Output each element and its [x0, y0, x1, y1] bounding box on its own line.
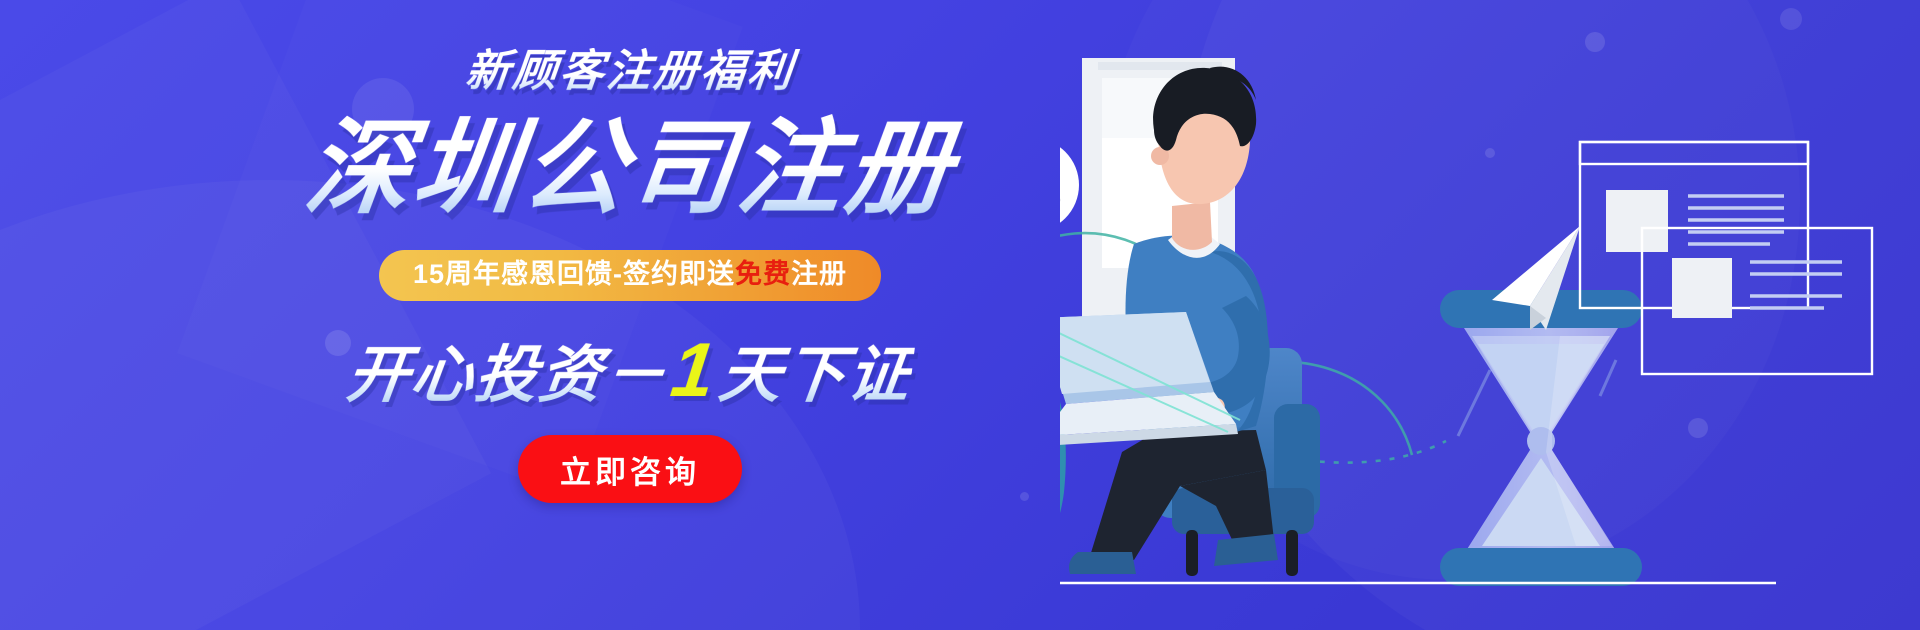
promo-badge-suffix: 注册 — [791, 259, 847, 289]
page-title: 深圳公司注册 — [293, 114, 968, 232]
consult-now-button[interactable]: 立即咨询 — [518, 435, 742, 503]
bg-dot-icon — [1020, 492, 1029, 501]
subline-after: 天下证 — [715, 341, 915, 410]
subline-text: 开心投资－1天下证 — [295, 331, 965, 411]
eyebrow-text: 新顾客注册福利 — [297, 48, 962, 100]
promo-banner: 新顾客注册福利 深圳公司注册 15周年感恩回馈-签约即送免费注册 开心投资－1天… — [0, 0, 1920, 630]
wall-clock-icon — [1060, 138, 1079, 232]
promo-badge-prefix: 15周年感恩回馈-签约即送 — [413, 259, 735, 289]
hourglass-icon — [1440, 290, 1642, 586]
document-card-front-icon — [1642, 228, 1872, 374]
banner-copy: 新顾客注册福利 深圳公司注册 15周年感恩回馈-签约即送免费注册 开心投资－1天… — [300, 48, 960, 503]
promo-badge-highlight: 免费 — [735, 259, 791, 289]
promo-badge: 15周年感恩回馈-签约即送免费注册 — [379, 250, 881, 301]
illustration — [1060, 0, 1920, 630]
subline-before: 开心投资－ — [343, 341, 671, 410]
